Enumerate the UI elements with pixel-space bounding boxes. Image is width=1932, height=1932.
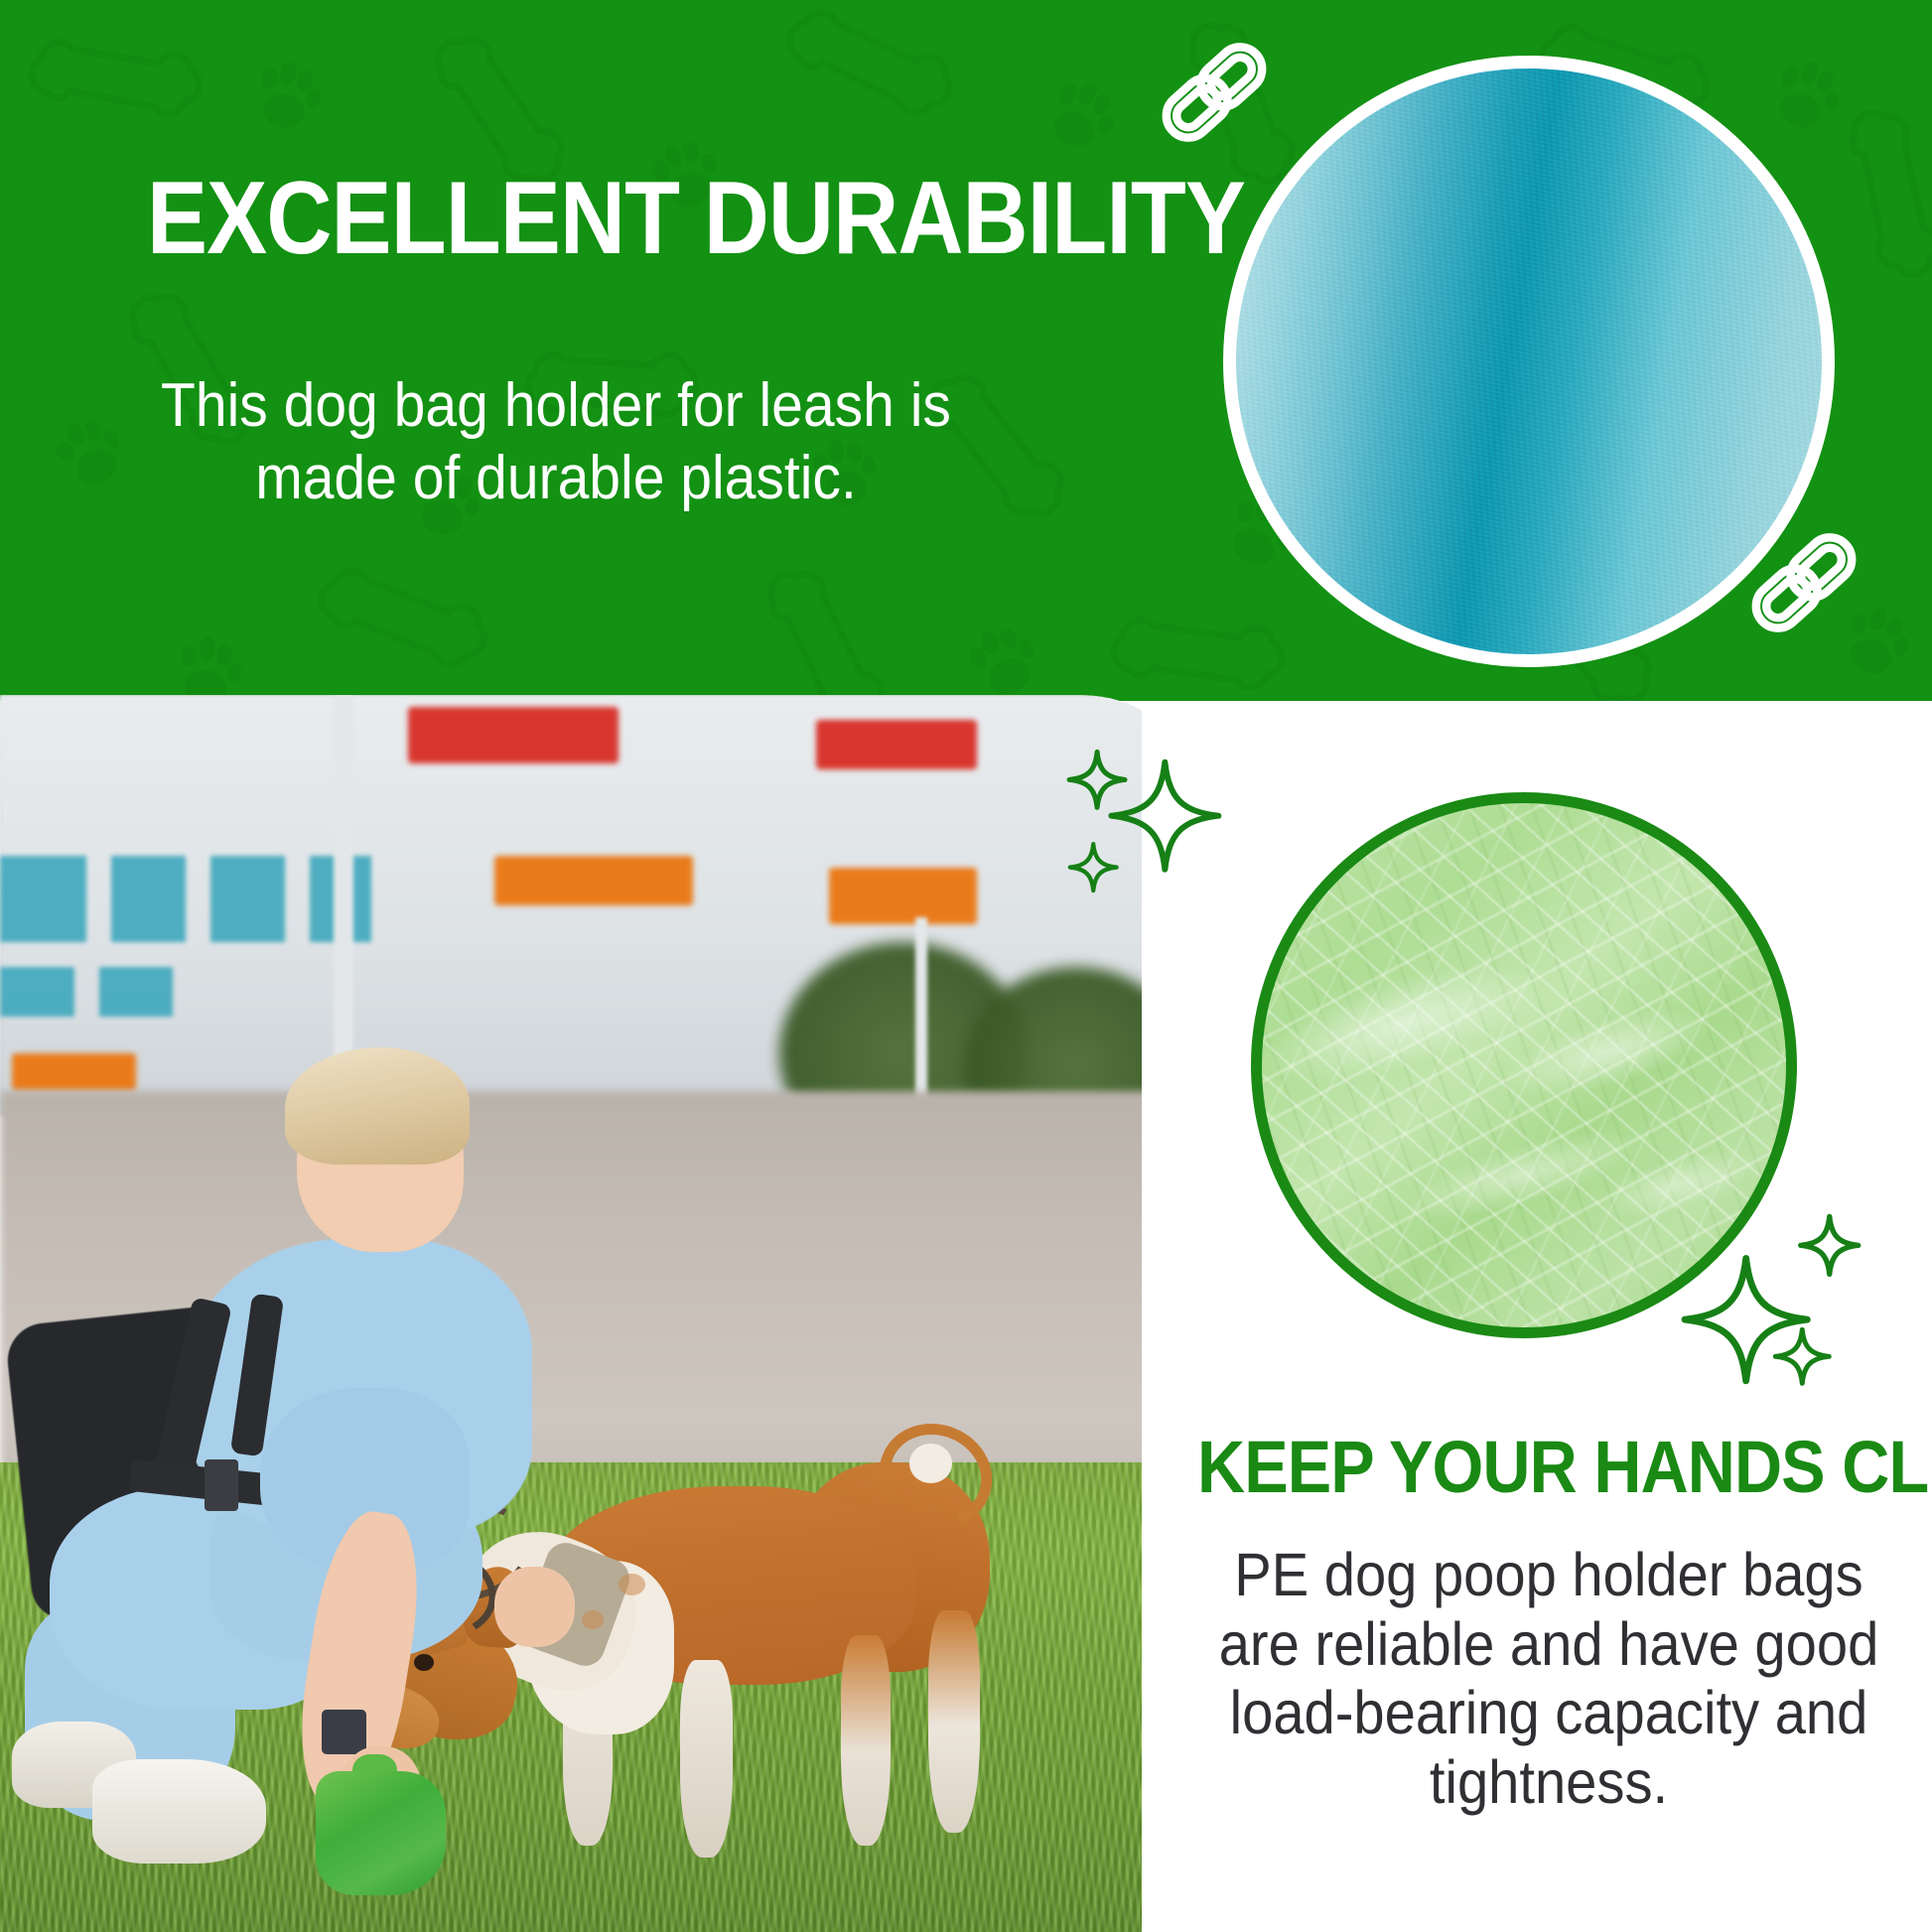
product-closeup-green-circle bbox=[1251, 792, 1797, 1338]
banner-subtext: This dog bag holder for leash is made of… bbox=[154, 369, 958, 514]
bag-highlight-texture bbox=[1251, 792, 1797, 1338]
lifestyle-photo bbox=[0, 695, 1237, 1932]
infographic-canvas: EXCELLENT DURABILITY This dog bag holder… bbox=[0, 0, 1932, 1932]
product-closeup-teal-circle bbox=[1223, 56, 1835, 667]
banner-section: EXCELLENT DURABILITY This dog bag holder… bbox=[0, 0, 1932, 701]
woman-shoe bbox=[92, 1759, 265, 1864]
banner-headline: EXCELLENT DURABILITY bbox=[147, 167, 1245, 270]
green-poop-bag bbox=[316, 1771, 446, 1895]
teal-texture bbox=[1236, 69, 1822, 654]
sparkle-icon bbox=[1054, 735, 1233, 913]
woman-hair bbox=[285, 1047, 471, 1165]
feature-heading: KEEP YOUR HANDS CLEAN bbox=[1197, 1431, 1876, 1504]
feature-body-text: PE dog poop holder bags are reliable and… bbox=[1211, 1541, 1887, 1817]
photo-scene bbox=[0, 695, 1237, 1932]
dog-tail-tip bbox=[909, 1444, 953, 1483]
